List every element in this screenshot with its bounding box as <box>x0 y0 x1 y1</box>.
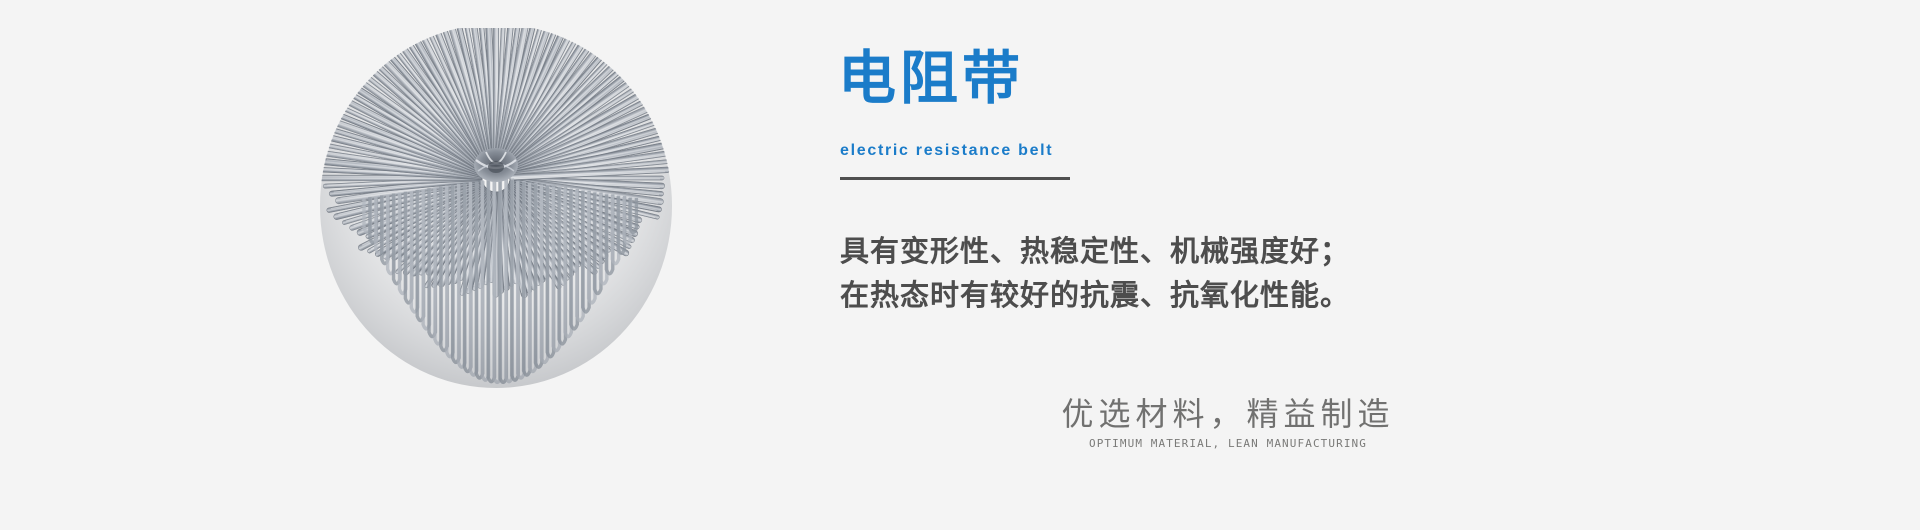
product-image-area <box>300 28 720 428</box>
title-divider <box>840 177 1070 180</box>
page-title: 电阻带 <box>838 48 1024 110</box>
product-banner: 电阻带 electric resistance belt 具有变形性、热稳定性、… <box>0 0 1920 530</box>
electric-resistance-belt-coil-photo <box>300 28 720 428</box>
description-line-1: 具有变形性、热稳定性、机械强度好； <box>840 230 1540 274</box>
text-column: 电阻带 electric resistance belt 具有变形性、热稳定性、… <box>838 0 1738 530</box>
tagline-chinese: 优选材料，精益制造 <box>1018 395 1438 433</box>
tagline-english: OPTIMUM MATERIAL, LEAN MANUFACTURING <box>1018 437 1438 451</box>
product-description: 具有变形性、热稳定性、机械强度好； 在热态时有较好的抗震、抗氧化性能。 <box>840 230 1540 318</box>
brand-tagline: 优选材料，精益制造 OPTIMUM MATERIAL, LEAN MANUFAC… <box>1018 395 1438 451</box>
page-subtitle: electric resistance belt <box>840 142 1053 160</box>
description-line-2: 在热态时有较好的抗震、抗氧化性能。 <box>840 274 1540 318</box>
coil-hub <box>474 148 518 182</box>
